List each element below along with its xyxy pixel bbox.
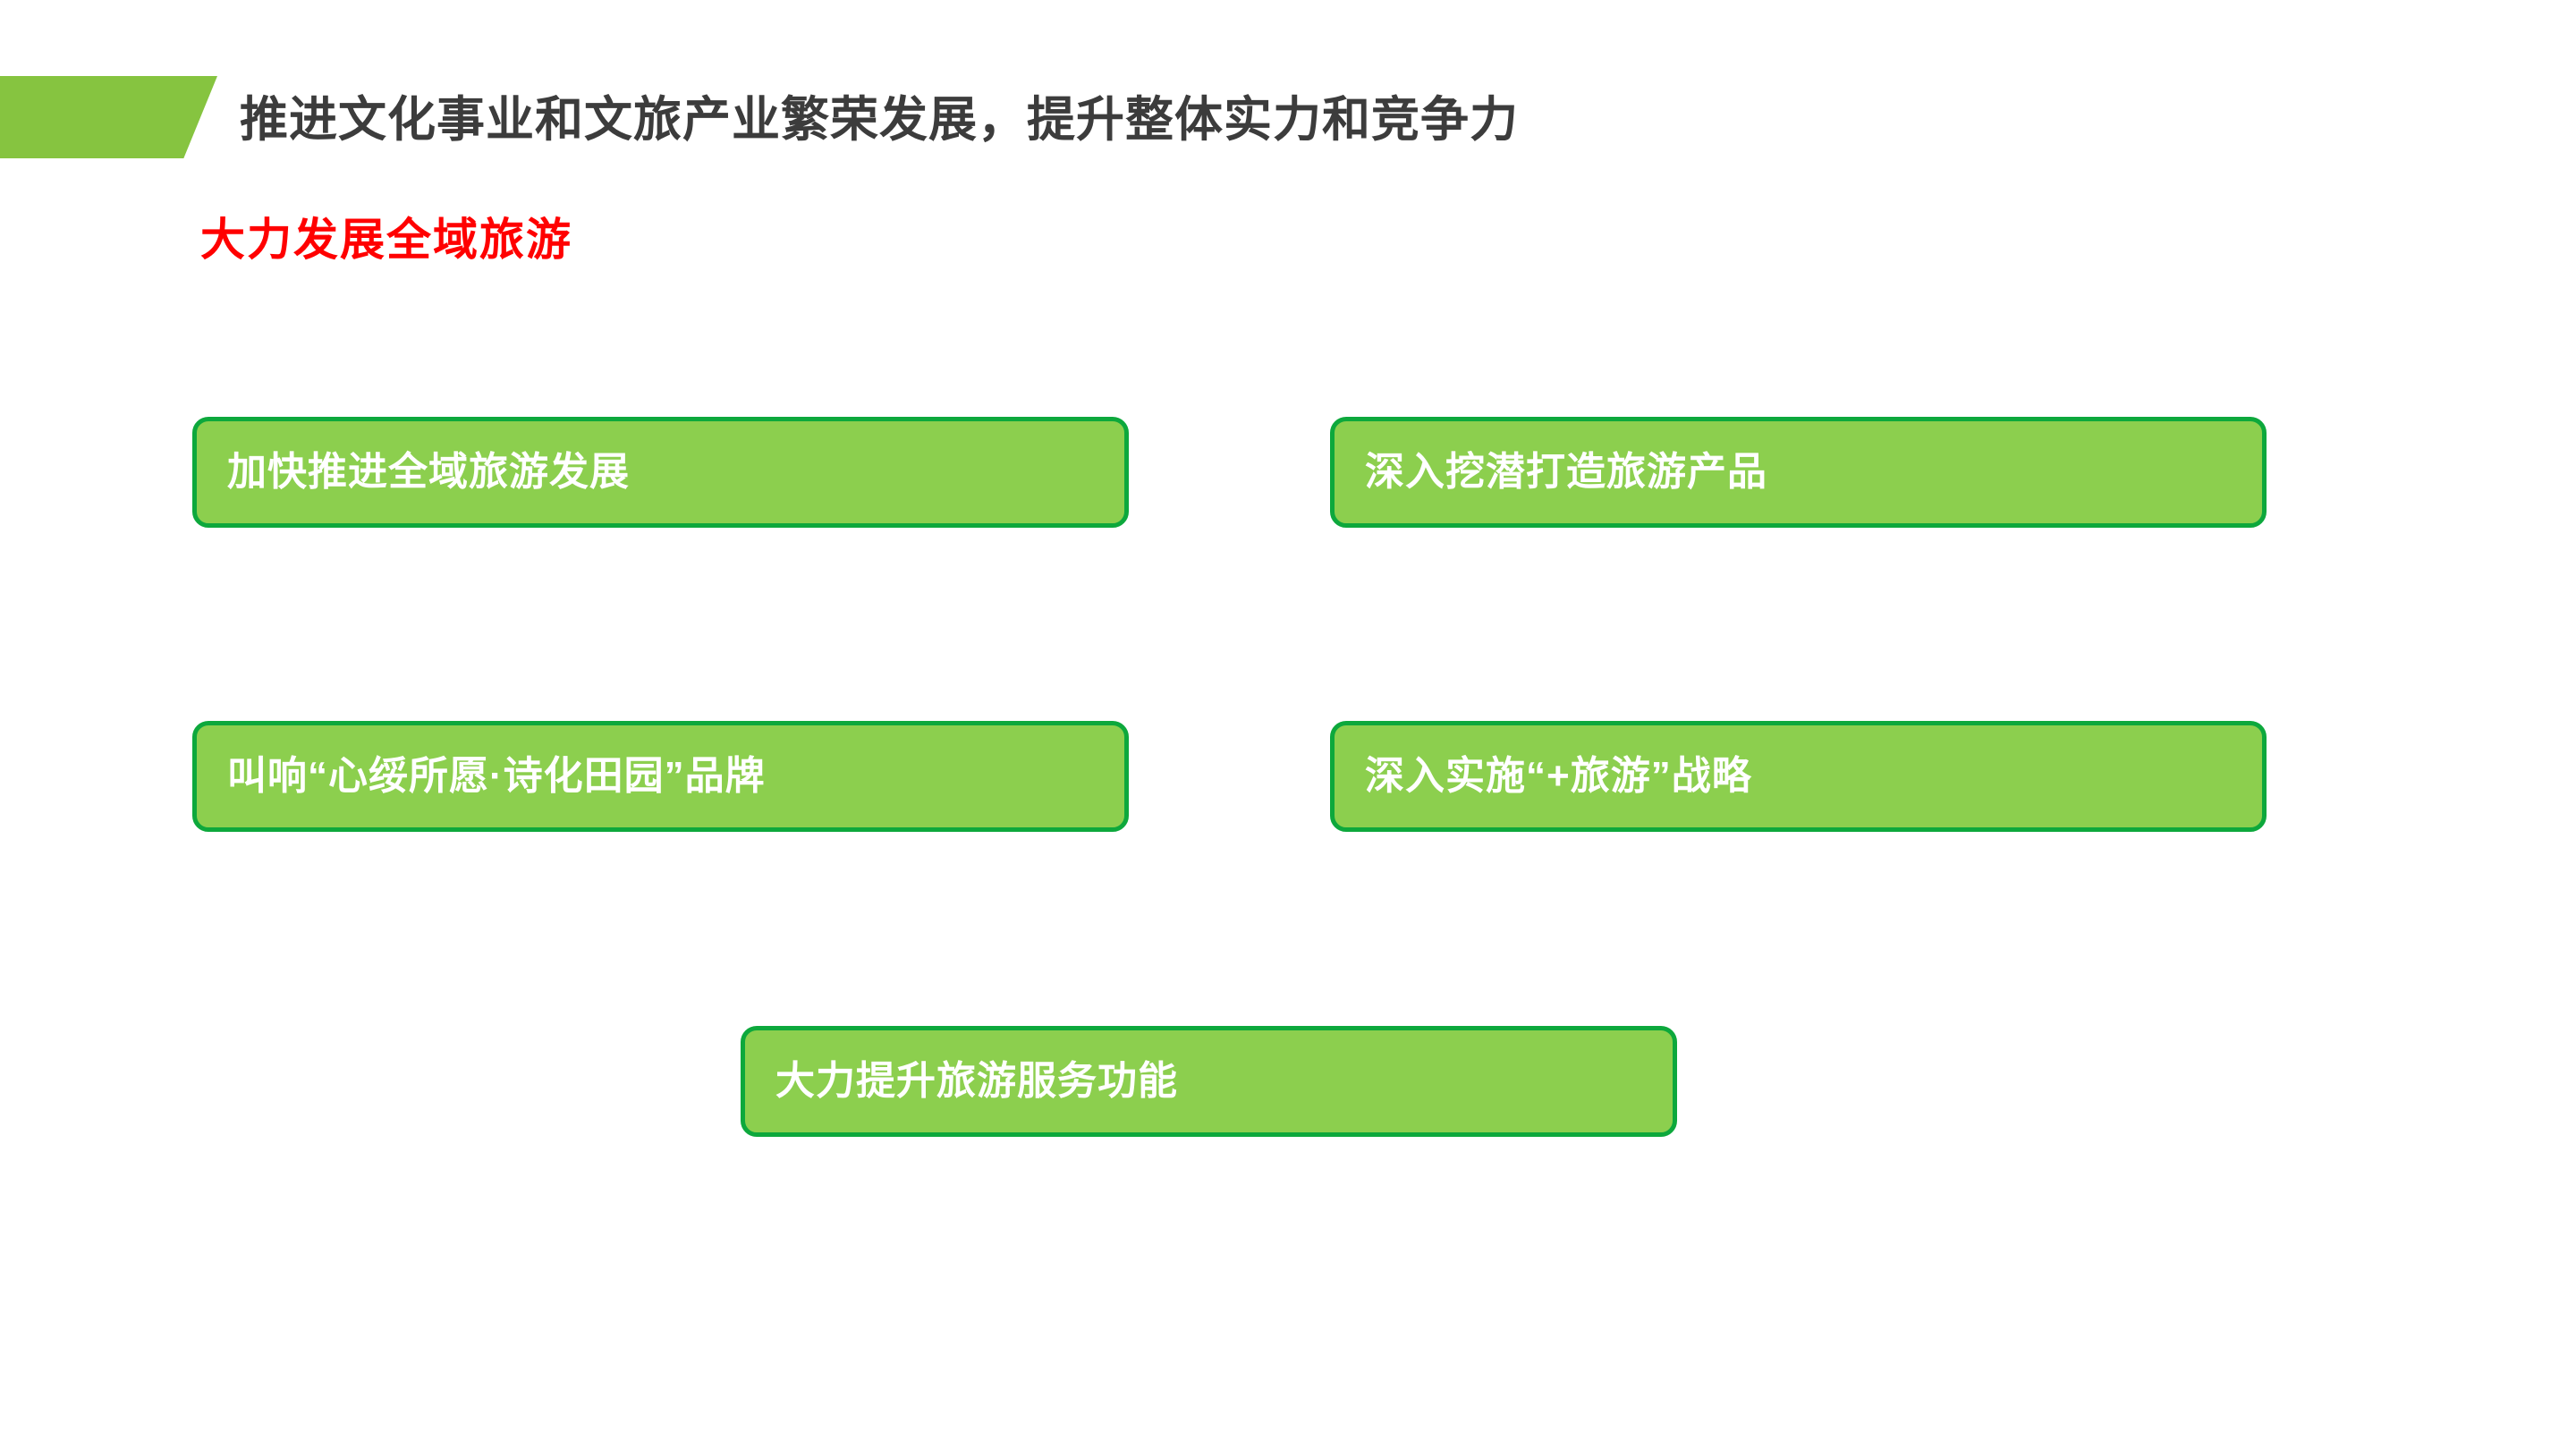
slide-canvas: 推进文化事业和文旅产业繁荣发展，提升整体实力和竞争力 大力发展全域旅游 加快推进… (0, 0, 2576, 1449)
content-box-5[interactable]: 大力提升旅游服务功能 (741, 1026, 1677, 1137)
content-box-label: 叫响“心绥所愿·诗化田园”品牌 (197, 757, 766, 796)
content-box-3[interactable]: 叫响“心绥所愿·诗化田园”品牌 (192, 721, 1129, 832)
content-box-label: 大力提升旅游服务功能 (745, 1062, 1178, 1101)
section-heading: 大力发展全域旅游 (200, 204, 572, 268)
header-banner-shape (0, 76, 217, 158)
content-box-1[interactable]: 加快推进全域旅游发展 (192, 417, 1129, 528)
content-box-2[interactable]: 深入挖潜打造旅游产品 (1330, 417, 2267, 528)
content-box-label: 深入实施“+旅游”战略 (1335, 757, 1752, 796)
content-box-label: 深入挖潜打造旅游产品 (1335, 453, 1767, 492)
content-box-label: 加快推进全域旅游发展 (197, 453, 630, 492)
content-box-4[interactable]: 深入实施“+旅游”战略 (1330, 721, 2267, 832)
page-title: 推进文化事业和文旅产业繁荣发展，提升整体实力和竞争力 (240, 70, 2386, 159)
